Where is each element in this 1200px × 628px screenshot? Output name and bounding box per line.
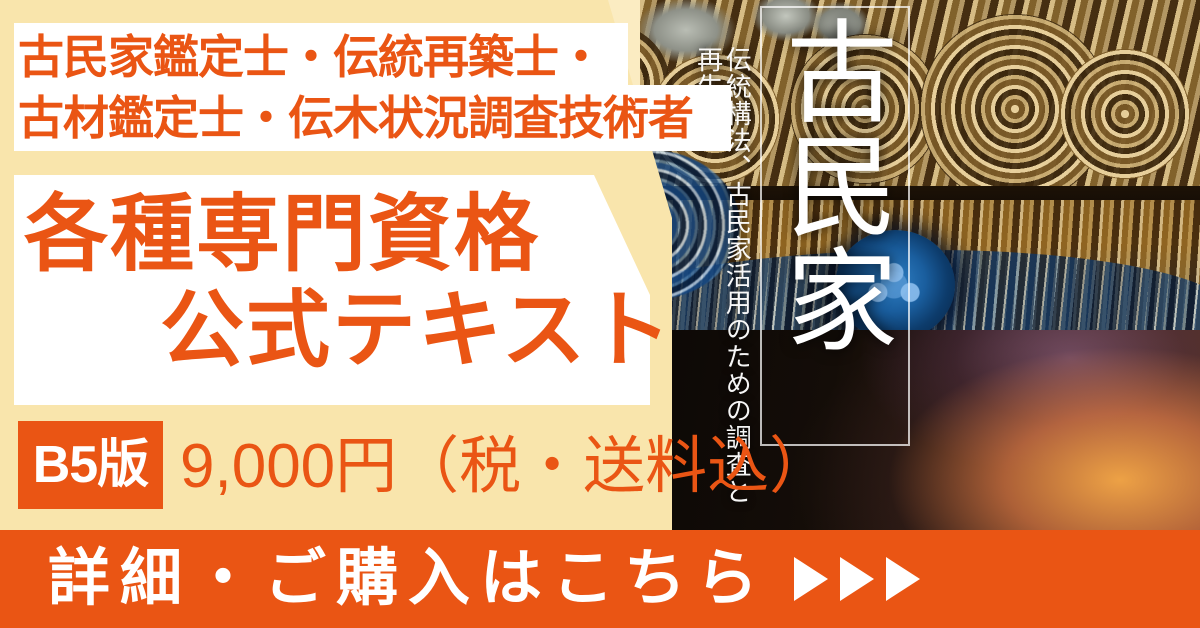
price-text: 9,000円（税・送料込） [180, 428, 831, 506]
headline-line-2: 古材鑑定士・伝木状況調査技術者 [18, 88, 734, 149]
play-arrow-icon [840, 557, 874, 601]
play-arrow-icon [794, 557, 828, 601]
book-title: 古民家 [768, 14, 902, 356]
cta-label: 詳細・ご購入はこちら [48, 548, 768, 610]
promo-banner: 古民家 伝統構法、古民家活用のための調査と再生の 古民家鑑定士・伝統再築士・ 古… [0, 0, 1200, 628]
headline-text: 古民家鑑定士・伝統再築士・ 古材鑑定士・伝木状況調査技術者 [18, 27, 734, 149]
wood-swirl-icon [1060, 49, 1190, 179]
cta-arrows [794, 557, 920, 601]
format-badge-label: B5版 [33, 439, 148, 491]
title-line-1: 各種専門資格 [24, 192, 540, 276]
cta-bar[interactable]: 詳細・ご購入はこちら [0, 530, 1200, 628]
play-arrow-icon [886, 557, 920, 601]
format-badge: B5版 [18, 421, 163, 509]
title-line-2: 公式テキスト [160, 288, 673, 372]
headline-line-1: 古民家鑑定士・伝統再築士・ [18, 27, 734, 88]
